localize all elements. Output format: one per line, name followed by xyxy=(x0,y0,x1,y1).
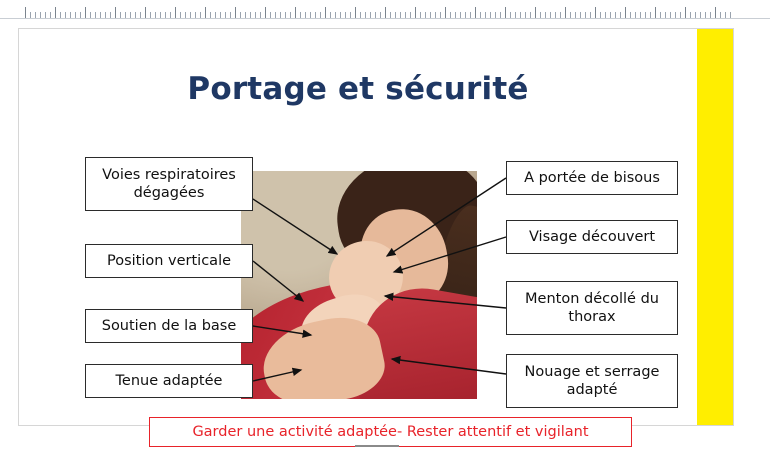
ruler-tick xyxy=(185,12,186,18)
ruler-tick xyxy=(55,7,56,18)
ruler-tick xyxy=(580,12,581,18)
ruler-tick xyxy=(85,7,86,18)
ruler-tick xyxy=(90,12,91,18)
ruler-tick xyxy=(465,12,466,18)
ruler-tick xyxy=(720,12,721,18)
ruler-tick xyxy=(500,12,501,18)
ruler-tick xyxy=(555,12,556,18)
ruler-tick xyxy=(100,12,101,18)
ruler-tick xyxy=(295,7,296,18)
ruler-tick xyxy=(505,7,506,18)
ruler-tick xyxy=(430,12,431,18)
ruler-tick xyxy=(120,12,121,18)
ruler-tick xyxy=(310,12,311,18)
ruler-tick xyxy=(125,12,126,18)
ruler-tick xyxy=(470,12,471,18)
ruler-tick xyxy=(280,12,281,18)
ruler-tick xyxy=(30,12,31,18)
ruler-tick xyxy=(65,12,66,18)
ruler xyxy=(0,0,770,22)
ruler-tick xyxy=(265,7,266,18)
ruler-tick xyxy=(480,12,481,18)
ruler-tick xyxy=(210,12,211,18)
ruler-tick xyxy=(70,12,71,18)
ruler-tick xyxy=(475,7,476,18)
ruler-tick xyxy=(600,12,601,18)
ruler-tick xyxy=(145,7,146,18)
ruler-tick xyxy=(80,12,81,18)
ruler-tick xyxy=(75,12,76,18)
ruler-tick xyxy=(620,12,621,18)
ruler-tick xyxy=(50,12,51,18)
ruler-baseline xyxy=(0,18,770,19)
ruler-tick xyxy=(40,12,41,18)
ruler-tick xyxy=(535,7,536,18)
ruler-tick xyxy=(550,12,551,18)
ruler-tick xyxy=(140,12,141,18)
ruler-tick xyxy=(250,12,251,18)
ruler-tick xyxy=(385,7,386,18)
ruler-tick xyxy=(335,12,336,18)
ruler-tick xyxy=(360,12,361,18)
ruler-tick xyxy=(635,12,636,18)
ruler-tick xyxy=(165,12,166,18)
ruler-tick xyxy=(180,12,181,18)
ruler-tick xyxy=(110,12,111,18)
ruler-tick xyxy=(150,12,151,18)
ruler-tick xyxy=(630,12,631,18)
page-title: Portage et sécurité xyxy=(19,71,697,107)
ruler-tick xyxy=(490,12,491,18)
callout-soutien-de-la-base[interactable]: Soutien de la base xyxy=(85,309,253,343)
ruler-tick xyxy=(530,12,531,18)
ruler-tick xyxy=(315,12,316,18)
ruler-tick xyxy=(255,12,256,18)
ruler-tick xyxy=(645,12,646,18)
ruler-tick xyxy=(245,12,246,18)
ruler-tick xyxy=(445,7,446,18)
ruler-tick xyxy=(375,12,376,18)
ruler-tick xyxy=(270,12,271,18)
ruler-tick xyxy=(450,12,451,18)
callout-visage-decouvert[interactable]: Visage découvert xyxy=(506,220,678,254)
ruler-tick xyxy=(640,12,641,18)
ruler-tick xyxy=(525,12,526,18)
ruler-tick xyxy=(655,7,656,18)
ruler-tick xyxy=(175,7,176,18)
ruler-tick xyxy=(290,12,291,18)
ruler-tick xyxy=(330,12,331,18)
ruler-tick xyxy=(585,12,586,18)
ruler-tick xyxy=(590,12,591,18)
ruler-tick xyxy=(565,7,566,18)
ruler-tick xyxy=(610,12,611,18)
ruler-tick xyxy=(540,12,541,18)
ruler-tick xyxy=(595,7,596,18)
accent-bar xyxy=(697,29,733,425)
ruler-tick xyxy=(220,12,221,18)
ruler-tick xyxy=(200,12,201,18)
ruler-tick xyxy=(395,12,396,18)
ruler-tick xyxy=(575,12,576,18)
ruler-tick xyxy=(705,12,706,18)
ruler-tick xyxy=(725,12,726,18)
ruler-tick xyxy=(325,7,326,18)
callout-menton-decolle[interactable]: Menton décollé du thorax xyxy=(506,281,678,335)
callout-tenue-adaptee[interactable]: Tenue adaptée xyxy=(85,364,253,398)
ruler-tick xyxy=(155,12,156,18)
ruler-tick xyxy=(190,12,191,18)
ruler-tick xyxy=(650,12,651,18)
ruler-tick xyxy=(520,12,521,18)
ruler-tick xyxy=(105,12,106,18)
ruler-tick xyxy=(510,12,511,18)
ruler-tick xyxy=(345,12,346,18)
ruler-tick xyxy=(625,7,626,18)
ruler-tick xyxy=(215,12,216,18)
photo-mother-and-baby xyxy=(241,171,477,399)
ruler-tick xyxy=(115,7,116,18)
ruler-tick xyxy=(390,12,391,18)
ruler-tick xyxy=(95,12,96,18)
ruler-tick xyxy=(545,12,546,18)
ruler-tick xyxy=(135,12,136,18)
ruler-tick xyxy=(365,12,366,18)
bottom-divider xyxy=(355,445,399,447)
slide-canvas[interactable]: Portage et sécurité Voies respiratoires … xyxy=(18,28,734,426)
ruler-tick xyxy=(690,12,691,18)
ruler-tick xyxy=(45,12,46,18)
ruler-tick xyxy=(350,12,351,18)
ruler-tick xyxy=(225,12,226,18)
ruler-tick xyxy=(425,12,426,18)
ruler-tick xyxy=(340,12,341,18)
callout-nouage-et-serrage[interactable]: Nouage et serrage adapté xyxy=(506,354,678,408)
ruler-tick xyxy=(605,12,606,18)
ruler-tick xyxy=(410,12,411,18)
ruler-tick xyxy=(405,12,406,18)
ruler-tick xyxy=(695,12,696,18)
ruler-tick xyxy=(455,12,456,18)
ruler-tick xyxy=(715,7,716,18)
ruler-tick xyxy=(710,12,711,18)
ruler-tick xyxy=(275,12,276,18)
ruler-tick xyxy=(730,12,731,18)
ruler-tick xyxy=(560,12,561,18)
callout-a-portee-de-bisous[interactable]: A portée de bisous xyxy=(506,161,678,195)
ruler-tick xyxy=(615,12,616,18)
ruler-tick xyxy=(300,12,301,18)
ruler-tick xyxy=(320,12,321,18)
ruler-tick xyxy=(305,12,306,18)
ruler-tick xyxy=(435,12,436,18)
ruler-tick xyxy=(195,12,196,18)
callout-voies-respiratoires[interactable]: Voies respiratoires dégagées xyxy=(85,157,253,211)
ruler-tick xyxy=(440,12,441,18)
ruler-tick xyxy=(420,12,421,18)
ruler-tick xyxy=(170,12,171,18)
ruler-tick xyxy=(680,12,681,18)
ruler-tick xyxy=(415,7,416,18)
ruler-tick xyxy=(230,12,231,18)
ruler-tick xyxy=(240,12,241,18)
ruler-tick xyxy=(515,12,516,18)
ruler-tick xyxy=(700,12,701,18)
callout-position-verticale[interactable]: Position verticale xyxy=(85,244,253,278)
ruler-tick xyxy=(130,12,131,18)
warning-banner[interactable]: Garder une activité adaptée- Rester atte… xyxy=(149,417,632,447)
ruler-tick xyxy=(35,12,36,18)
ruler-tick xyxy=(25,7,26,18)
ruler-tick xyxy=(685,7,686,18)
ruler-tick xyxy=(400,12,401,18)
ruler-tick xyxy=(260,12,261,18)
ruler-tick xyxy=(235,7,236,18)
ruler-tick xyxy=(670,12,671,18)
ruler-tick xyxy=(675,12,676,18)
ruler-tick xyxy=(60,12,61,18)
ruler-tick xyxy=(485,12,486,18)
ruler-tick xyxy=(495,12,496,18)
ruler-tick xyxy=(160,12,161,18)
ruler-tick xyxy=(660,12,661,18)
ruler-tick xyxy=(370,12,371,18)
ruler-tick xyxy=(665,12,666,18)
ruler-tick xyxy=(380,12,381,18)
ruler-tick xyxy=(570,12,571,18)
ruler-tick xyxy=(355,7,356,18)
ruler-tick xyxy=(205,7,206,18)
ruler-tick xyxy=(285,12,286,18)
ruler-tick xyxy=(460,12,461,18)
